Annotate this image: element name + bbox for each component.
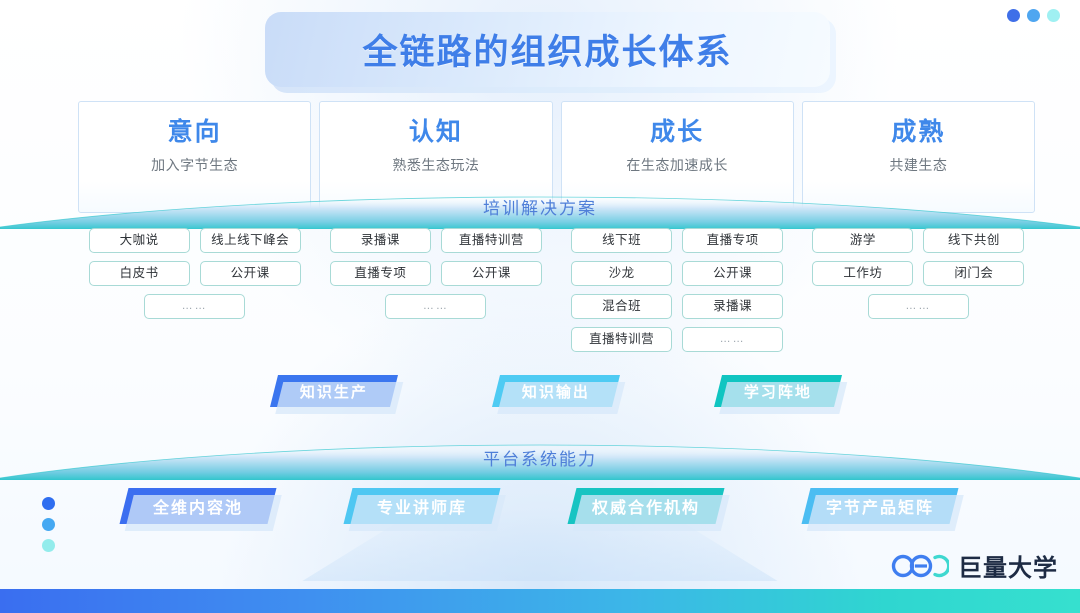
juliang-logo-icon — [891, 553, 949, 579]
course-chip-grid: 大咖说线上线下峰会白皮书公开课……录播课直播特训营直播专项公开课……线下班直播专… — [78, 228, 1035, 368]
chip-column-1: 大咖说线上线下峰会白皮书公开课…… — [78, 228, 311, 368]
stage-title: 成熟 — [891, 118, 945, 147]
course-chip[interactable]: 白皮书 — [89, 261, 190, 286]
mid-ribbon-row: 知识生产知识输出学习阵地 — [78, 375, 1035, 409]
training-band-label: 培训解决方案 — [0, 194, 1080, 219]
chip-row: 游学线下共创 — [802, 228, 1035, 253]
stage-subtitle: 加入字节生态 — [151, 155, 238, 175]
stage-subtitle: 在生态加速成长 — [626, 155, 728, 175]
brand-name: 巨量大学 — [958, 548, 1058, 583]
chip-row: 大咖说线上线下峰会 — [78, 228, 311, 253]
course-chip[interactable]: 录播课 — [682, 294, 783, 319]
course-chip[interactable]: 线下班 — [571, 228, 672, 253]
training-band: 培训解决方案 — [0, 181, 1080, 229]
mid-ribbon-2[interactable]: 知识输出 — [492, 375, 620, 407]
bottom-ribbon-4[interactable]: 字节产品矩阵 — [802, 488, 959, 524]
chip-row: 沙龙公开课 — [561, 261, 794, 286]
course-chip[interactable]: 直播特训营 — [571, 327, 672, 352]
chip-row: 线下班直播专项 — [561, 228, 794, 253]
stage-subtitle: 熟悉生态玩法 — [392, 155, 479, 175]
stage-title: 成长 — [650, 118, 704, 147]
bottom-ribbon-row: 全维内容池专业讲师库权威合作机构字节产品矩阵 — [78, 488, 1035, 528]
bottom-ribbon-label: 字节产品矩阵 — [826, 494, 934, 518]
top-dot-1 — [1007, 9, 1020, 22]
platform-band: 平台系统能力 — [0, 428, 1080, 480]
mid-ribbon-1[interactable]: 知识生产 — [270, 375, 398, 407]
course-chip[interactable]: 线上线下峰会 — [200, 228, 301, 253]
mid-ribbon-label: 知识输出 — [522, 381, 590, 402]
course-chip[interactable]: 公开课 — [200, 261, 301, 286]
stage-title: 意向 — [168, 118, 222, 147]
mid-ribbon-3[interactable]: 学习阵地 — [714, 375, 842, 407]
course-chip[interactable]: 直播专项 — [682, 228, 783, 253]
left-dot-1 — [42, 497, 55, 510]
bottom-ribbon-label: 全维内容池 — [153, 494, 243, 518]
stage-title: 认知 — [409, 118, 463, 147]
course-chip[interactable]: 直播特训营 — [441, 228, 542, 253]
slide-canvas: 全链路的组织成长体系 意向加入字节生态认知熟悉生态玩法成长在生态加速成长成熟共建… — [0, 0, 1080, 613]
bottom-ribbon-label: 专业讲师库 — [377, 494, 467, 518]
chip-column-4: 游学线下共创工作坊闭门会…… — [802, 228, 1035, 368]
bottom-ribbon-label: 权威合作机构 — [592, 494, 700, 518]
chip-row: …… — [319, 294, 552, 319]
chip-row: 混合班录播课 — [561, 294, 794, 319]
course-chip[interactable]: 大咖说 — [89, 228, 190, 253]
chip-row: …… — [78, 294, 311, 319]
left-dot-2 — [42, 518, 55, 531]
chip-more[interactable]: …… — [868, 294, 969, 319]
course-chip[interactable]: 录播课 — [330, 228, 431, 253]
course-chip[interactable]: 公开课 — [682, 261, 783, 286]
chip-row: 录播课直播特训营 — [319, 228, 552, 253]
bottom-left-dots — [42, 497, 55, 552]
title-banner: 全链路的组织成长体系 — [265, 12, 830, 87]
course-chip[interactable]: 闭门会 — [923, 261, 1024, 286]
page-title: 全链路的组织成长体系 — [362, 24, 732, 75]
course-chip[interactable]: 工作坊 — [812, 261, 913, 286]
platform-band-label: 平台系统能力 — [0, 445, 1080, 470]
brand-logo: 巨量大学 — [891, 548, 1058, 583]
course-chip[interactable]: 公开课 — [441, 261, 542, 286]
left-dot-3 — [42, 539, 55, 552]
chip-row: 工作坊闭门会 — [802, 261, 1035, 286]
top-dot-2 — [1027, 9, 1040, 22]
chip-row: 白皮书公开课 — [78, 261, 311, 286]
bottom-accent-bar — [0, 589, 1080, 613]
chip-column-3: 线下班直播专项沙龙公开课混合班录播课直播特训营…… — [561, 228, 794, 368]
top-dot-3 — [1047, 9, 1060, 22]
chip-row: …… — [802, 294, 1035, 319]
chip-more[interactable]: …… — [385, 294, 486, 319]
stage-subtitle: 共建生态 — [889, 155, 947, 175]
course-chip[interactable]: 线下共创 — [923, 228, 1024, 253]
chip-row: 直播特训营…… — [561, 327, 794, 352]
mid-ribbon-label: 知识生产 — [300, 381, 368, 402]
course-chip[interactable]: 沙龙 — [571, 261, 672, 286]
chip-more[interactable]: …… — [144, 294, 245, 319]
chip-row: 直播专项公开课 — [319, 261, 552, 286]
bottom-ribbon-1[interactable]: 全维内容池 — [120, 488, 277, 524]
course-chip[interactable]: 混合班 — [571, 294, 672, 319]
top-right-dots — [1007, 9, 1060, 22]
course-chip[interactable]: 游学 — [812, 228, 913, 253]
bottom-ribbon-2[interactable]: 专业讲师库 — [344, 488, 501, 524]
bottom-ribbon-3[interactable]: 权威合作机构 — [568, 488, 725, 524]
chip-more[interactable]: …… — [682, 327, 783, 352]
course-chip[interactable]: 直播专项 — [330, 261, 431, 286]
title-banner-box: 全链路的组织成长体系 — [265, 12, 830, 87]
mid-ribbon-label: 学习阵地 — [744, 381, 812, 402]
chip-column-2: 录播课直播特训营直播专项公开课…… — [319, 228, 552, 368]
